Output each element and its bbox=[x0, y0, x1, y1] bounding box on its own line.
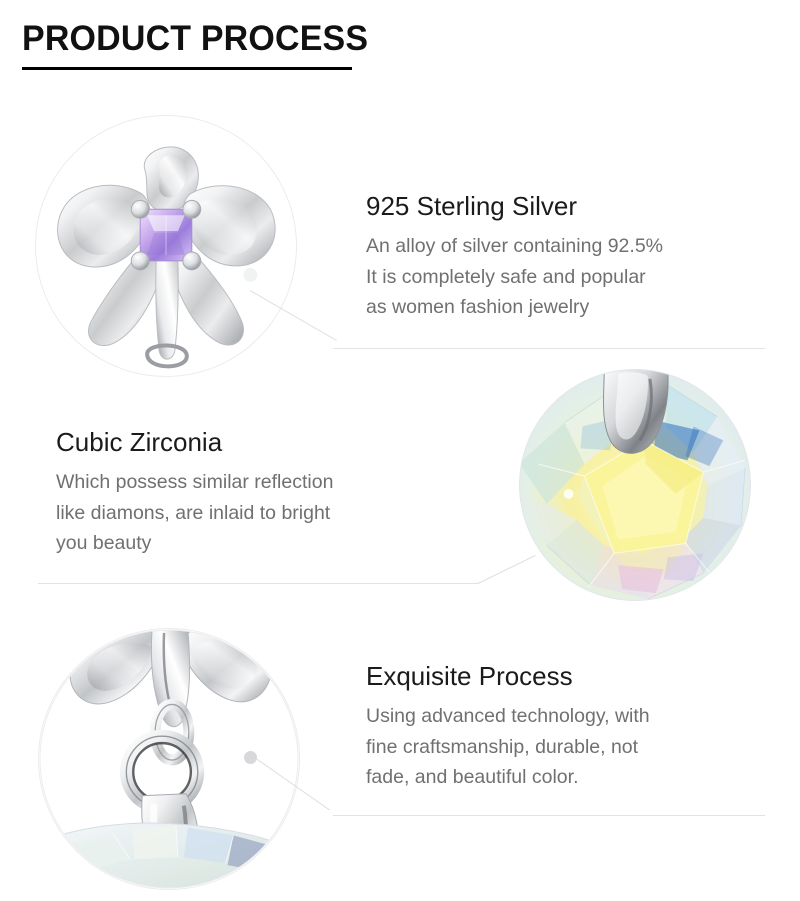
feature-body-line: It is completely safe and popular bbox=[366, 262, 663, 293]
feature-heading-sterling-silver: 925 Sterling Silver bbox=[366, 192, 663, 222]
feature-body-sterling-silver: An alloy of silver containing 92.5% It i… bbox=[366, 231, 663, 323]
feature-body-line: An alloy of silver containing 92.5% bbox=[366, 231, 663, 262]
feature-block-exquisite-process: Exquisite Process Using advanced technol… bbox=[366, 662, 650, 793]
feature-body-cubic-zirconia: Which possess similar reflection like di… bbox=[56, 467, 333, 559]
feature-block-cubic-zirconia: Cubic Zirconia Which possess similar ref… bbox=[56, 428, 333, 559]
feature-body-line: fade, and beautiful color. bbox=[366, 762, 650, 793]
divider-sterling-silver bbox=[333, 348, 765, 349]
feature-heading-cubic-zirconia: Cubic Zirconia bbox=[56, 428, 333, 458]
feature-body-exquisite-process: Using advanced technology, with fine cra… bbox=[366, 701, 650, 793]
feature-body-line: fine craftsmanship, durable, not bbox=[366, 732, 650, 763]
divider-exquisite-process bbox=[333, 815, 765, 816]
connector-line-cubic-zirconia bbox=[478, 555, 536, 584]
feature-body-line: you beauty bbox=[56, 528, 333, 559]
divider-cubic-zirconia bbox=[38, 583, 478, 584]
feature-body-line: like diamons, are inlaid to bright bbox=[56, 498, 333, 529]
medallion-bow-stone bbox=[35, 115, 297, 377]
feature-body-line: Which possess similar reflection bbox=[56, 467, 333, 498]
title-underline bbox=[22, 67, 352, 70]
feature-body-line: Using advanced technology, with bbox=[366, 701, 650, 732]
medallion-crystal bbox=[518, 368, 752, 602]
feature-block-sterling-silver: 925 Sterling Silver An alloy of silver c… bbox=[366, 192, 663, 323]
product-process-infographic: PRODUCT PROCESS bbox=[0, 0, 800, 901]
feature-heading-exquisite-process: Exquisite Process bbox=[366, 662, 650, 692]
medallion-bow-drop bbox=[38, 628, 300, 890]
feature-body-line: as women fashion jewelry bbox=[366, 292, 663, 323]
page-title: PRODUCT PROCESS bbox=[22, 21, 368, 56]
